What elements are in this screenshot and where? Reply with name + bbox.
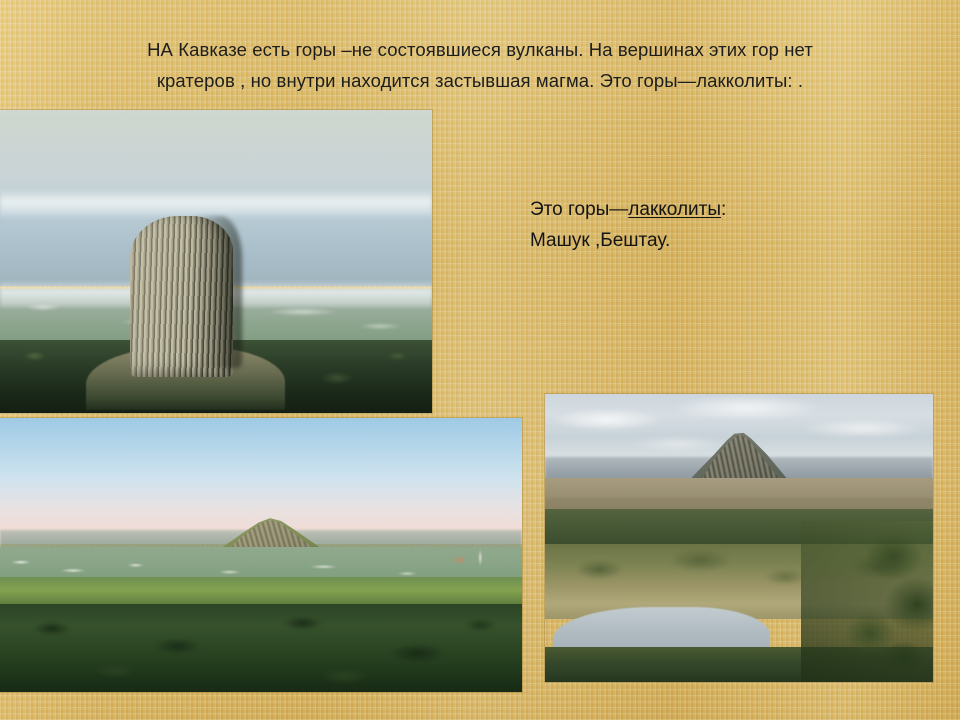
presentation-slide: НА Кавказе есть горы –не состоявшиеся ву… <box>0 0 960 720</box>
photo3-foreground-bush <box>801 521 933 682</box>
caption-underlined-term: лакколиты <box>628 199 721 220</box>
photo1-tower-shadow <box>190 216 242 368</box>
photo2-foreground-texture <box>0 604 522 692</box>
photo-beshtau-panorama <box>0 418 522 692</box>
caption-line-2: Машук ,Бештау. <box>530 225 930 256</box>
laccolith-caption: Это горы—лакколиты: Машук ,Бештау. <box>530 194 930 256</box>
photo-laccolith-tower <box>0 110 432 413</box>
photo1-cloud-band <box>0 189 432 219</box>
caption-suffix: : <box>721 199 726 220</box>
caption-prefix: Это горы— <box>530 199 628 220</box>
page-title: НА Кавказе есть горы –не состоявшиеся ву… <box>18 34 942 96</box>
photo-mashuk-pond <box>545 394 933 682</box>
caption-line-1: Это горы—лакколиты: <box>530 194 930 225</box>
